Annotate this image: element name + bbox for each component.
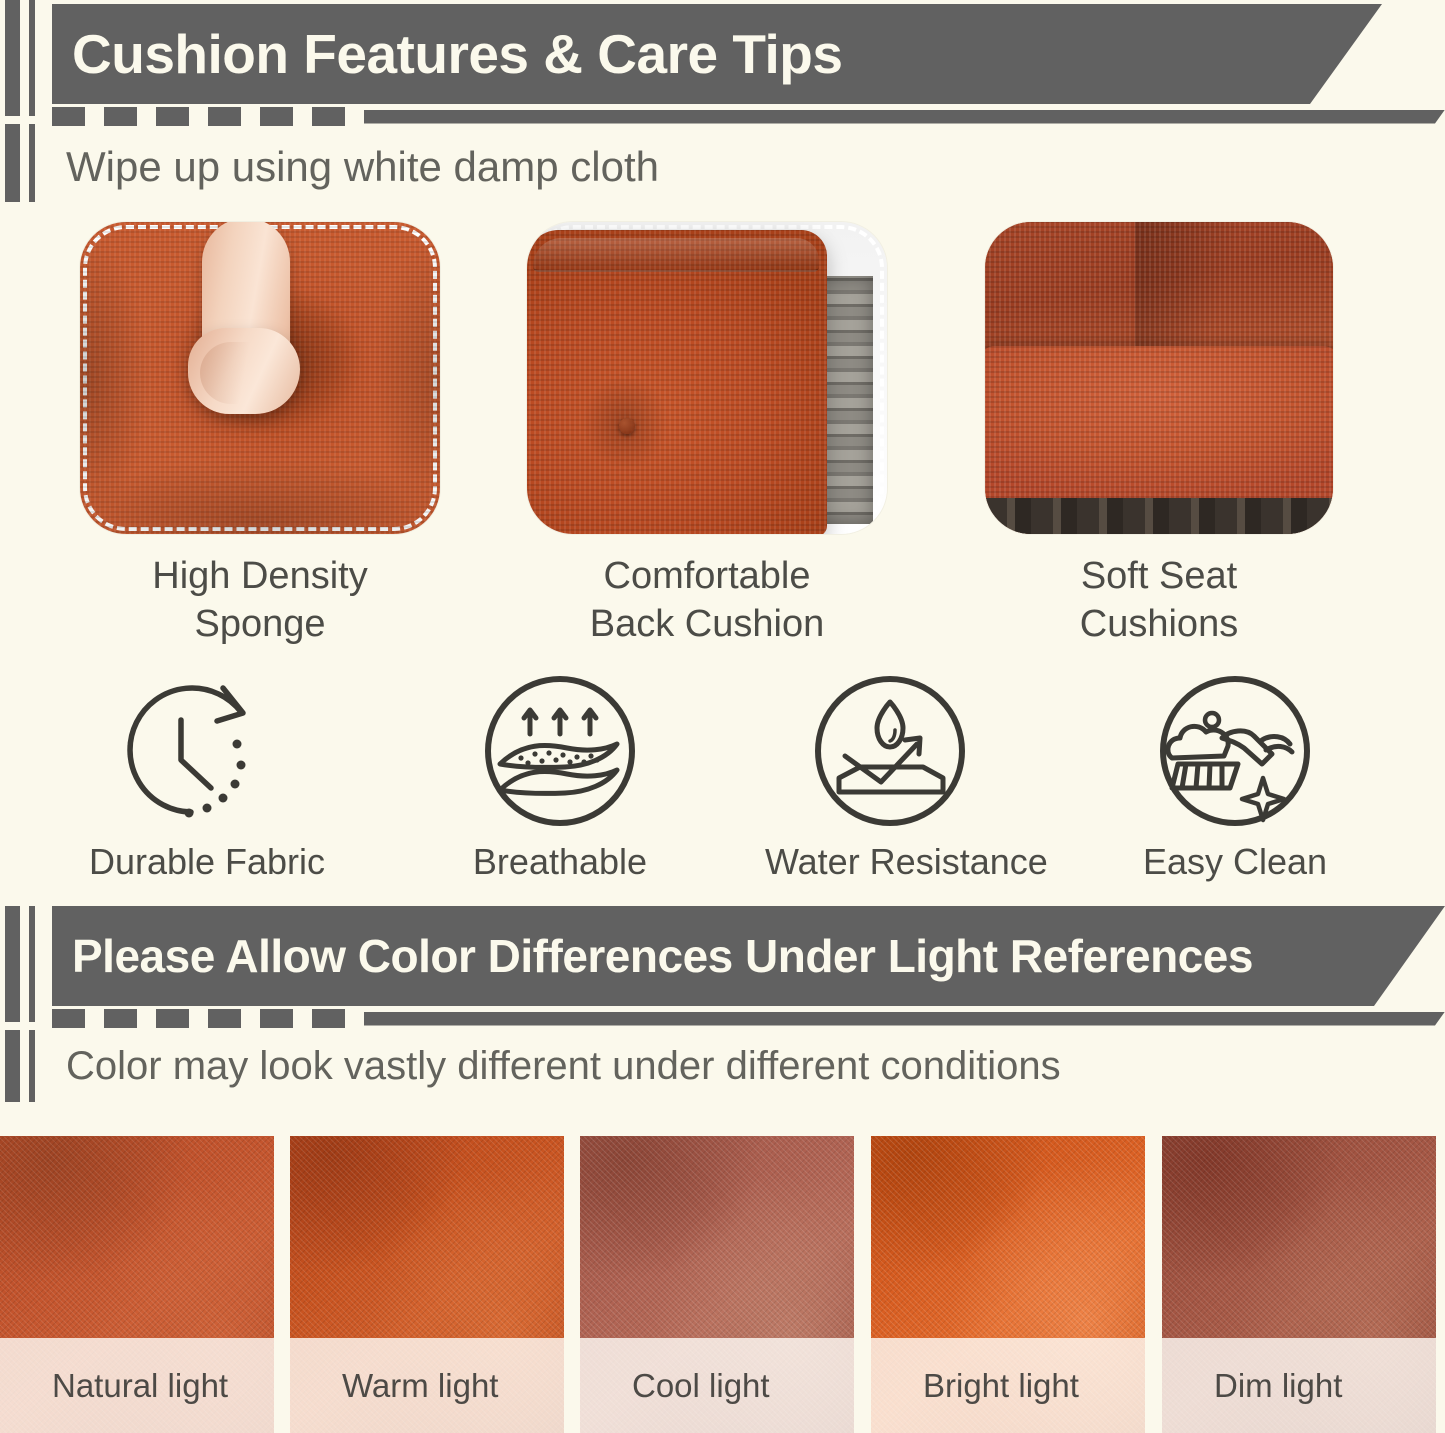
section-two-dash-rule [52,1009,1445,1028]
dash-6 [312,107,345,126]
dash-4 [208,107,241,126]
caption-line-2: Cushions [985,600,1333,648]
caption-line-1: Soft Seat [985,552,1333,600]
feature-item-durable-fabric[interactable]: Durable Fabric [82,672,332,880]
swatch-label-overlay: Warm light [290,1338,564,1433]
dash-1 [52,107,85,126]
dash-6 [312,1009,345,1028]
soft-seat-cushions-photo[interactable] [985,222,1333,534]
section-one-dash-rule [52,107,1445,126]
clock-arrow-icon [117,672,297,830]
caption-line-1: Comfortable [527,552,887,600]
tuft-pucker-shading [575,342,695,472]
dash-5 [260,1009,293,1028]
dash-rule-solid [364,1012,1445,1026]
swatch-label-overlay: Cool light [580,1338,854,1433]
brush-sparkle-icon [1150,672,1320,830]
dash-5 [260,107,293,126]
swatch-warm-light[interactable]: Warm light [290,1136,564,1433]
swatch-label: Dim light [1162,1369,1342,1402]
swatch-bright-light[interactable]: Bright light [871,1136,1145,1433]
swatch-label-overlay: Dim light [1162,1338,1436,1433]
swatch-label-overlay: Natural light [0,1338,274,1433]
feature-photo-caption-1: High Density Sponge [80,552,440,649]
swatch-label: Cool light [580,1369,770,1402]
left-rail-thick [5,0,20,116]
dash-3 [156,1009,189,1028]
water-droplet-repel-icon [805,672,975,830]
swatch-label: Natural light [0,1369,228,1402]
left-rail-thick-4 [5,1030,20,1102]
dash-4 [208,1009,241,1028]
left-rail-thin-2 [29,124,35,202]
feature-photo-caption-2: Comfortable Back Cushion [527,552,887,649]
feature-label-durable-fabric: Durable Fabric [82,844,332,880]
color-reference-swatch-row: Natural light Warm light Cool light Brig… [0,1136,1445,1433]
feature-photo-row: High Density Sponge Comfortable Back Cus… [0,222,1445,642]
feature-photo-cell-2: Comfortable Back Cushion [527,222,887,534]
section-one-subtitle: Wipe up using white damp cloth [66,146,659,188]
left-rail-thin-4 [29,1030,35,1102]
fabric-texture [985,222,1333,534]
swatch-natural-light[interactable]: Natural light [0,1136,274,1433]
section-two-banner: Please Allow Color Differences Under Lig… [52,906,1445,1006]
caption-line-2: Back Cushion [527,600,887,648]
left-rail-thick-2 [5,124,20,202]
feature-photo-caption-3: Soft Seat Cushions [985,552,1333,649]
section-two-subtitle: Color may look vastly different under di… [66,1046,1061,1086]
feature-item-breathable[interactable]: Breathable [435,672,685,880]
breathable-fabric-icon [475,672,645,830]
left-rail-thin [29,0,35,116]
dash-2 [104,107,137,126]
feature-photo-cell-3: Soft Seat Cushions [985,222,1333,534]
left-rail-thick-3 [5,906,20,1022]
dash-rule-solid [364,110,1445,124]
finger-crease-shading [200,342,280,404]
feature-photo-cell-1: High Density Sponge [80,222,440,534]
wicker-base-strip [985,498,1333,534]
dash-1 [52,1009,85,1028]
feature-label-easy-clean: Easy Clean [1110,844,1360,880]
feature-label-water-resistance: Water Resistance [765,844,1015,880]
section-one-banner-title: Cushion Features & Care Tips [52,27,842,82]
section-two-banner-title: Please Allow Color Differences Under Lig… [52,933,1253,979]
dash-2 [104,1009,137,1028]
section-one-banner: Cushion Features & Care Tips [52,4,1445,104]
swatch-dim-light[interactable]: Dim light [1162,1136,1436,1433]
feature-item-easy-clean[interactable]: Easy Clean [1110,672,1360,880]
swatch-label: Warm light [290,1369,498,1402]
feature-label-breathable: Breathable [435,844,685,880]
left-rail-thin-3 [29,906,35,1022]
caption-line-1: High Density [80,552,440,600]
feature-item-water-resistance[interactable]: Water Resistance [765,672,1015,880]
swatch-cool-light[interactable]: Cool light [580,1136,854,1433]
cushion-welt-seam [533,238,819,272]
dash-3 [156,107,189,126]
comfortable-back-cushion-photo[interactable] [527,222,887,534]
caption-line-2: Sponge [80,600,440,648]
swatch-label-overlay: Bright light [871,1338,1145,1433]
high-density-sponge-photo[interactable] [80,222,440,534]
swatch-label: Bright light [871,1369,1079,1402]
